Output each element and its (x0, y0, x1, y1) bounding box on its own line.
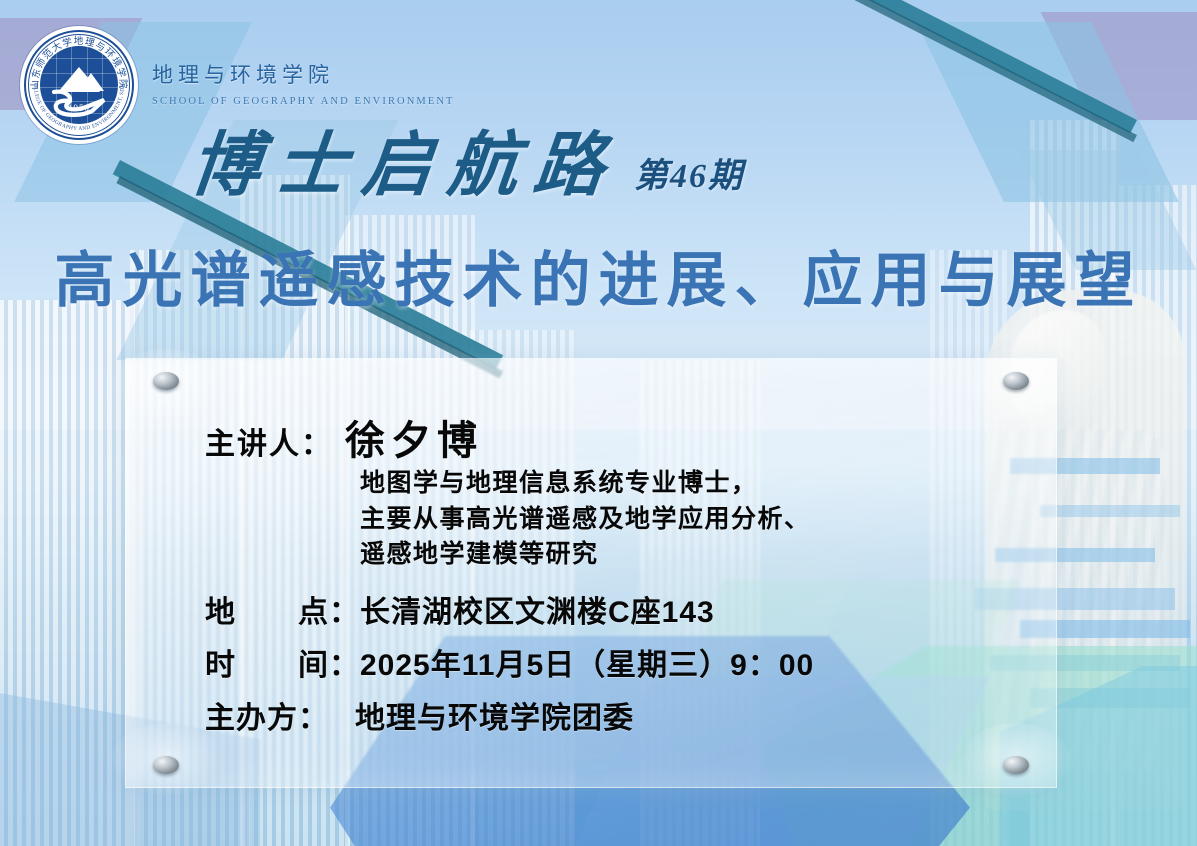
geo-shape-top-right-purple (1041, 12, 1197, 120)
panel-stud-top-left (153, 372, 179, 390)
school-name-en: SCHOOL OF GEOGRAPHY AND ENVIRONMENT (152, 96, 455, 107)
speaker-name: 徐夕博 (345, 408, 483, 466)
seal-founding-year: 1950 (40, 103, 118, 113)
poster-canvas: 山东师范大学地理与环境学院 COLLEGE OF GEOGRAPHY AND E… (0, 0, 1197, 846)
event-details: 地 点： 长清湖校区文渊楼C座143 时 间： 2025年11月5日（星期三）9… (205, 587, 1085, 737)
detail-row-organizer: 主办方： 地理与环境学院团委 (205, 693, 1085, 737)
bio-line: 主要从事高光谱遥感及地学应用分析、 (360, 502, 1085, 538)
bio-line: 遥感地学建模等研究 (360, 537, 1085, 573)
event-info-block: 主讲人： 徐夕博 地图学与地理信息系统专业博士， 主要从事高光谱遥感及地学应用分… (205, 408, 1085, 746)
school-seal-icon: 山东师范大学地理与环境学院 COLLEGE OF GEOGRAPHY AND E… (20, 26, 138, 144)
seal-globe: 1950 (40, 46, 118, 124)
organizer-value: 地理与环境学院团委 (355, 693, 634, 737)
geo-bar-top-right (774, 0, 1137, 133)
geo-shape-top-right-blue (916, 22, 1179, 202)
time-label: 时 间： (205, 640, 360, 684)
speaker-label: 主讲人： (205, 419, 333, 463)
panel-stud-bottom-right (1003, 756, 1029, 774)
geo-bar-top-right-shadow (777, 0, 1137, 142)
detail-row-location: 地 点： 长清湖校区文渊楼C座143 (205, 587, 1085, 631)
organizer-label: 主办方： (205, 693, 355, 737)
panel-stud-top-right (1003, 372, 1029, 390)
series-issue-number: 第46期 (634, 160, 744, 202)
series-name: 博士启航路 (186, 132, 623, 202)
location-label: 地 点： (205, 587, 360, 631)
time-value: 2025年11月5日（星期三）9：00 (360, 640, 814, 684)
page-title: 高光谱遥感技术的进展、应用与展望 (0, 248, 1197, 314)
location-value: 长清湖校区文渊楼C座143 (360, 587, 715, 631)
speaker-row: 主讲人： 徐夕博 (205, 408, 1085, 466)
panel-stud-bottom-left (153, 756, 179, 774)
detail-row-time: 时 间： 2025年11月5日（星期三）9：00 (205, 640, 1085, 684)
school-name-cn: 地理与环境学院 (152, 63, 455, 88)
poster-header: 山东师范大学地理与环境学院 COLLEGE OF GEOGRAPHY AND E… (20, 26, 455, 144)
bio-line: 地图学与地理信息系统专业博士， (360, 466, 1085, 502)
speaker-bio: 地图学与地理信息系统专业博士， 主要从事高光谱遥感及地学应用分析、 遥感地学建模… (360, 466, 1085, 573)
series-title-block: 博士启航路 第46期 (190, 132, 744, 202)
school-name-block: 地理与环境学院 SCHOOL OF GEOGRAPHY AND ENVIRONM… (152, 63, 455, 106)
